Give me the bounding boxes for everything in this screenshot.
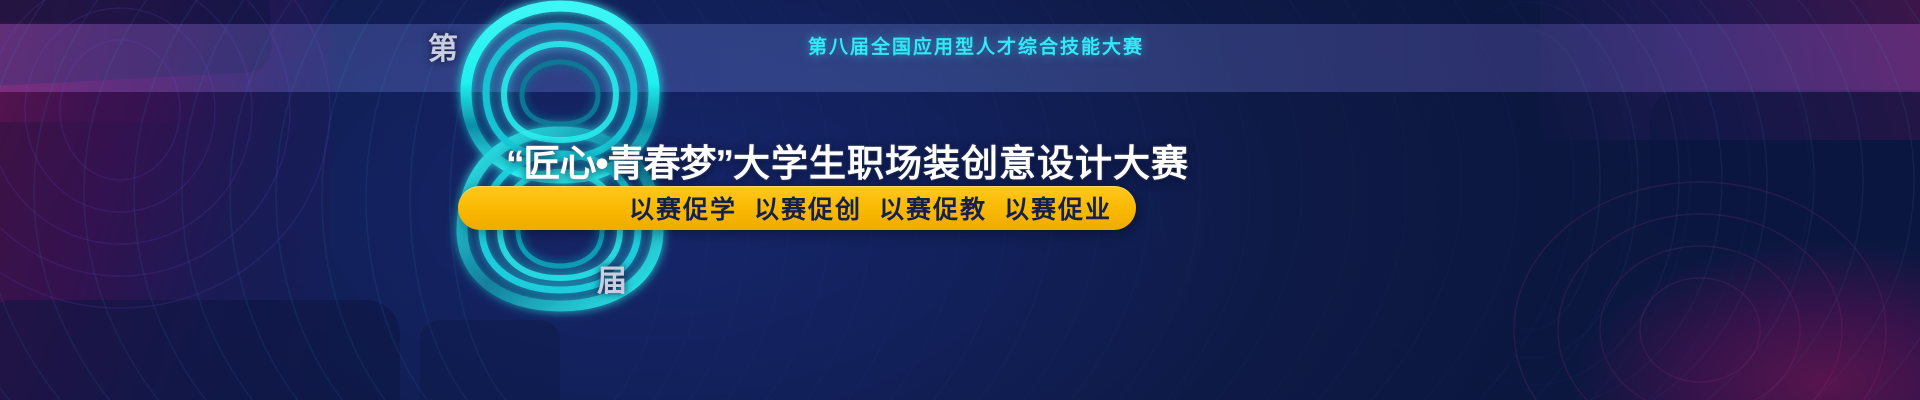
page-title: “匠心•青春梦”大学生职场装创意设计大赛 [506, 133, 1189, 187]
slogan-item: 以赛促创 [754, 196, 862, 224]
title-rest-part: 大学生职场装创意设计大赛 [733, 143, 1189, 184]
slogan-list: 以赛促学以赛促创以赛促教以赛促业 [629, 190, 1112, 226]
slogan-item: 以赛促业 [1004, 196, 1112, 224]
slogan-banner: 以赛促学以赛促创以赛促教以赛促业 [458, 186, 1136, 230]
slogan-item: 以赛促教 [879, 196, 987, 224]
competition-banner: 第 届 第八届全国应用型人才综合技能大赛 “匠心•青春梦”大学生职场装创意设计大… [0, 0, 1920, 400]
slogan-item: 以赛促学 [629, 196, 737, 224]
edition-suffix-label: 届 [597, 256, 628, 300]
edition-prefix-label: 第 [428, 24, 459, 68]
title-quoted-part: “匠心•青春梦” [506, 143, 733, 184]
event-name-line: 第八届全国应用型人才综合技能大赛 [808, 32, 1144, 59]
